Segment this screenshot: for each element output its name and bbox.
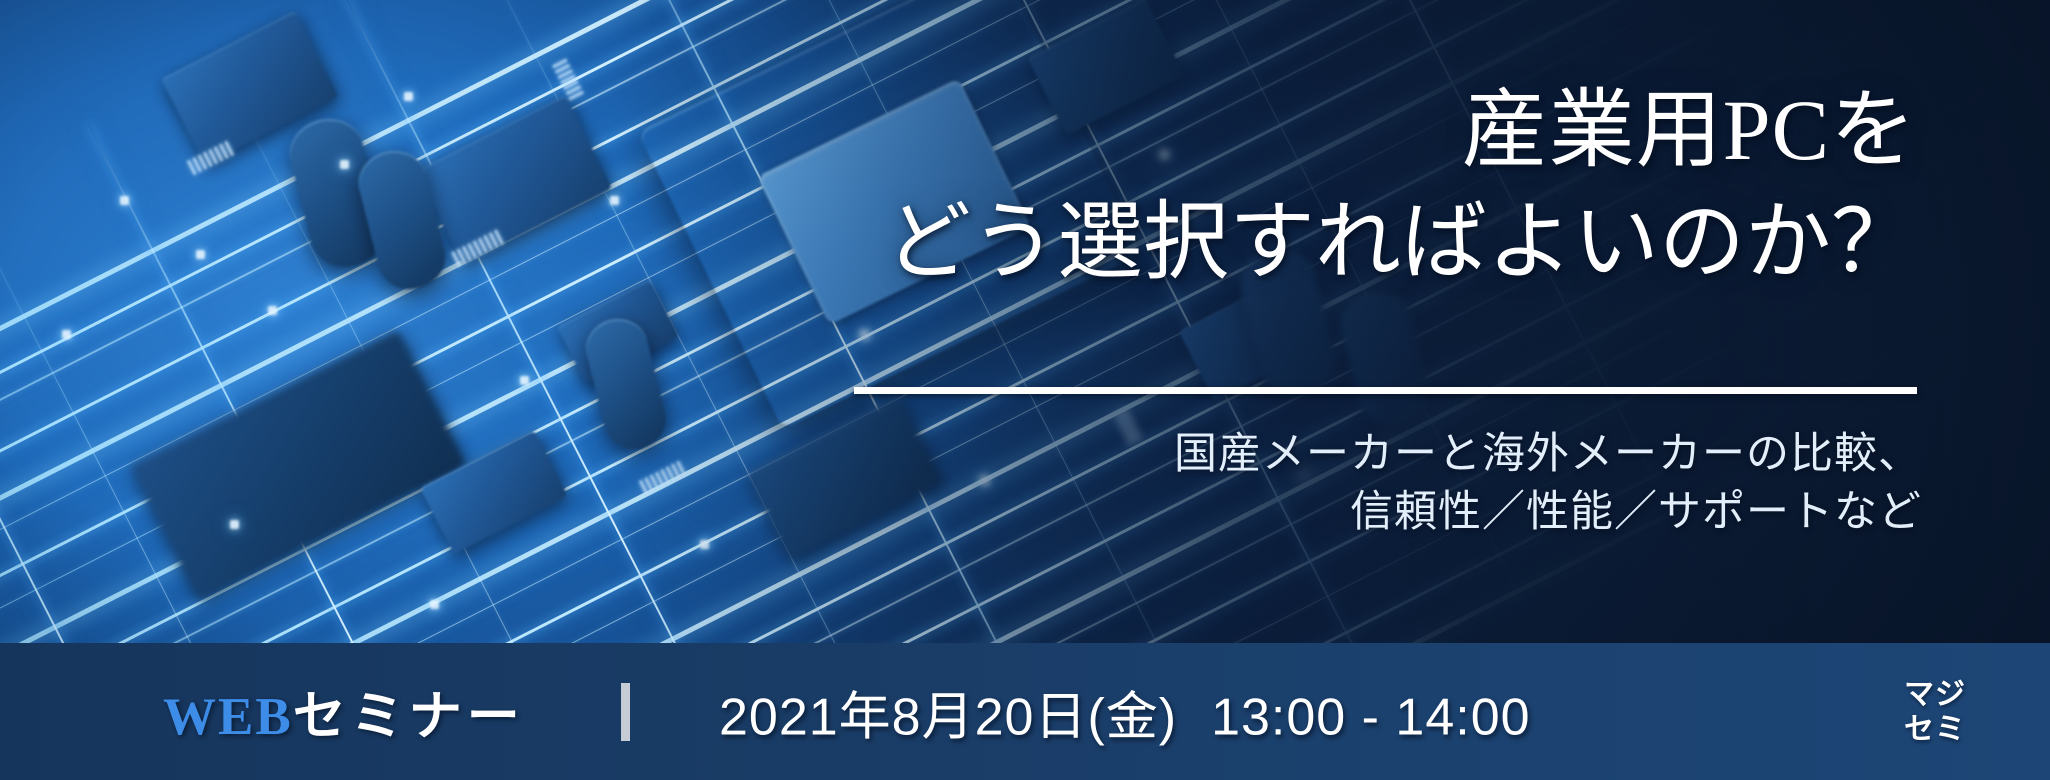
headline: 産業用PCを どう選択すればよいのか？ (797, 74, 1917, 298)
event-datetime: 2021年8月20日(金)13:00 - 14:00 (719, 674, 1531, 749)
event-date: 2021年8月20日(金) (719, 688, 1177, 746)
headline-line-1: 産業用PCを (797, 74, 1917, 186)
subtitle-line-1: 国産メーカーと海外メーカーの比較、 (802, 425, 1922, 483)
majisemi-logo[interactable]: マジ セミ (1904, 677, 1966, 747)
seminar-type-web-text: WEB (163, 688, 293, 746)
logo-line-1: マジ (1904, 677, 1966, 712)
seminar-type-label: WEBセミナー (163, 674, 525, 750)
event-time: 13:00 - 14:00 (1211, 688, 1530, 746)
subtitle: 国産メーカーと海外メーカーの比較、 信頼性／性能／サポートなど (802, 425, 1922, 541)
headline-line-2: どう選択すればよいのか？ (797, 186, 1917, 298)
logo-line-2: セミ (1904, 712, 1966, 747)
seminar-type-seminar-text: セミナー (293, 688, 525, 746)
headline-divider-rule (854, 387, 1917, 394)
webinar-banner: 産業用PCを どう選択すればよいのか？ 国産メーカーと海外メーカーの比較、 信頼… (0, 0, 2050, 780)
vertical-divider (621, 683, 630, 741)
subtitle-line-2: 信頼性／性能／サポートなど (802, 483, 1922, 541)
bottom-info-bar: WEBセミナー 2021年8月20日(金)13:00 - 14:00 マジ セミ (0, 643, 2050, 780)
